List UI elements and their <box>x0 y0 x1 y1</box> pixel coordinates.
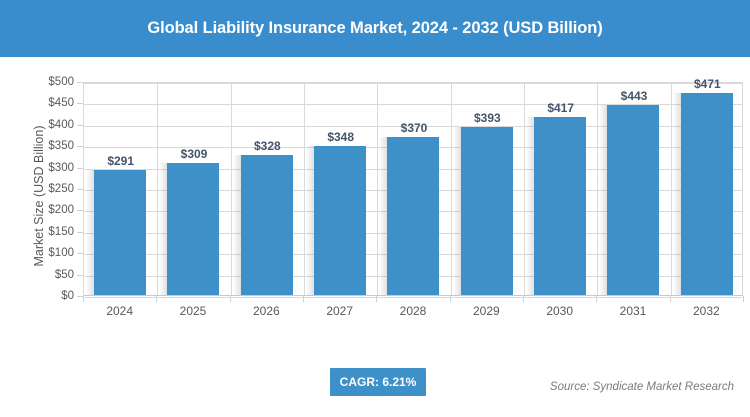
bar-slot <box>304 83 377 295</box>
bar-slot <box>597 83 670 295</box>
bar[interactable] <box>167 163 219 295</box>
x-axis-tick-label: 2029 <box>450 304 523 318</box>
y-axis-tick-label: $250 <box>10 183 74 195</box>
y-axis-tick-label: $200 <box>10 204 74 216</box>
bar-value-label: $370 <box>377 121 450 135</box>
y-axis-tick-label: $300 <box>10 162 74 174</box>
bar-slot <box>84 83 157 295</box>
y-axis-tick-label: $0 <box>10 290 74 302</box>
x-axis-tick-label: 2032 <box>670 304 743 318</box>
bar-value-label: $417 <box>524 101 597 115</box>
bar-slot <box>231 83 304 295</box>
bar-slot <box>377 83 450 295</box>
x-axis-tick-label: 2028 <box>376 304 449 318</box>
cagr-label: CAGR: 6.21% <box>340 375 417 389</box>
chart-title-band: Global Liability Insurance Market, 2024 … <box>0 0 750 57</box>
x-axis-tick-mark <box>743 296 744 302</box>
y-axis-tick-label: $450 <box>10 97 74 109</box>
cagr-badge: CAGR: 6.21% <box>330 368 426 396</box>
bar[interactable] <box>607 105 659 295</box>
y-axis-tick-label: $100 <box>10 247 74 259</box>
y-axis-tick-label: $400 <box>10 119 74 131</box>
gridline-horizontal <box>84 297 742 298</box>
bar[interactable] <box>314 146 366 295</box>
page-title: Global Liability Insurance Market, 2024 … <box>147 19 602 38</box>
bar[interactable] <box>681 93 733 295</box>
x-axis-tick-label: 2025 <box>156 304 229 318</box>
chart-figure: Global Liability Insurance Market, 2024 … <box>0 0 750 417</box>
plot-area: $291$309$328$348$370$393$417$443$471 <box>83 82 743 296</box>
source-note: Source: Syndicate Market Research <box>550 381 734 393</box>
bar[interactable] <box>241 155 293 295</box>
y-axis-tick-label: $350 <box>10 140 74 152</box>
bar-value-label: $328 <box>231 139 304 153</box>
bar-value-label: $471 <box>671 77 744 91</box>
bar[interactable] <box>461 127 513 295</box>
y-axis-tick-label: $500 <box>10 76 74 88</box>
bar[interactable] <box>387 137 439 295</box>
bar-value-label: $393 <box>451 111 524 125</box>
bar-slot <box>157 83 230 295</box>
y-axis-tick-label: $50 <box>10 269 74 281</box>
bar-value-label: $309 <box>157 147 230 161</box>
x-axis-tick-label: 2030 <box>523 304 596 318</box>
bar[interactable] <box>534 117 586 295</box>
bar-value-label: $443 <box>597 89 670 103</box>
x-axis-tick-label: 2026 <box>230 304 303 318</box>
bar[interactable] <box>94 170 146 295</box>
bar-slot <box>671 83 744 295</box>
x-axis-tick-label: 2031 <box>596 304 669 318</box>
bar-value-label: $291 <box>84 154 157 168</box>
bar-slot <box>524 83 597 295</box>
bar-value-label: $348 <box>304 130 377 144</box>
x-axis-tick-label: 2027 <box>303 304 376 318</box>
y-axis-tick-label: $150 <box>10 226 74 238</box>
x-axis-tick-label: 2024 <box>83 304 156 318</box>
